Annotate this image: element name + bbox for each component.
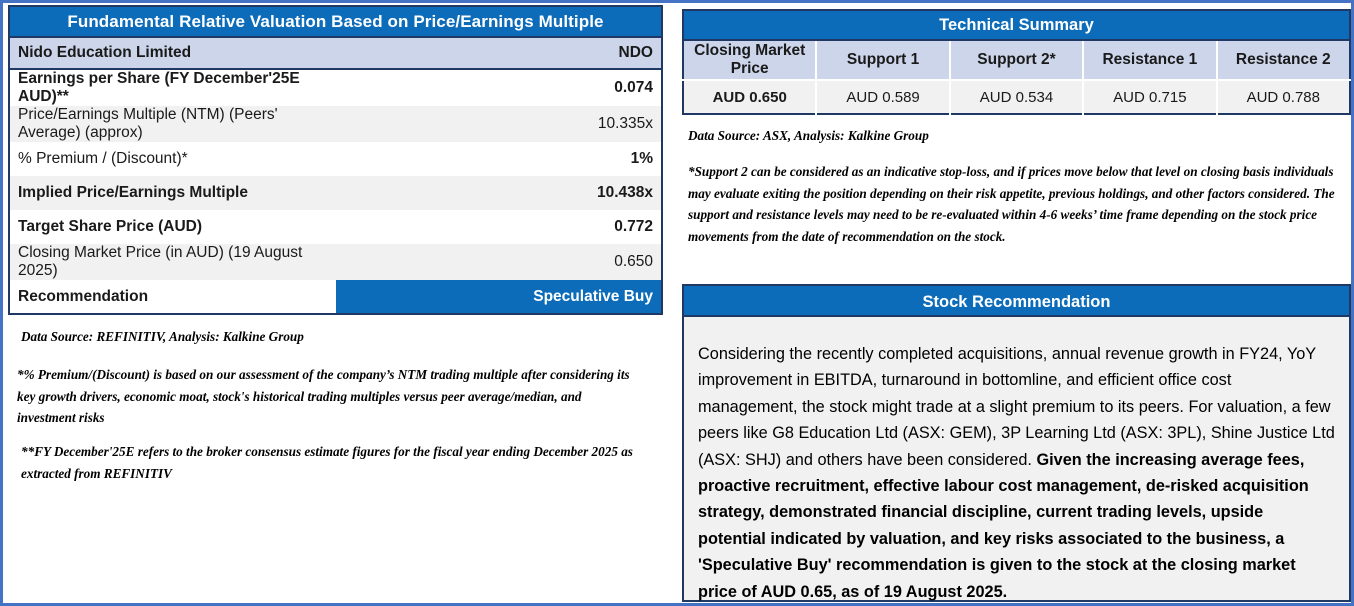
stock-recommendation-body: Considering the recently completed acqui…	[682, 317, 1351, 602]
recommendation-label: Recommendation	[9, 280, 336, 314]
col-header-resistance-2: Resistance 2	[1217, 40, 1350, 80]
table-row: Closing Market Price (in AUD) (19 August…	[9, 244, 662, 280]
row-label-eps: Earnings per Share (FY December'25E AUD)…	[9, 69, 336, 106]
row-label-pe-multiple: Price/Earnings Multiple (NTM) (Peers' Av…	[9, 106, 336, 142]
table-row: Implied Price/Earnings Multiple 10.438x	[9, 176, 662, 210]
table-row: Target Share Price (AUD) 0.772	[9, 210, 662, 244]
row-label-closing-price: Closing Market Price (in AUD) (19 August…	[9, 244, 336, 280]
technical-header-row: Closing Market Price Support 1 Support 2…	[683, 40, 1350, 80]
report-page: Fundamental Relative Valuation Based on …	[0, 0, 1354, 606]
row-value-premium-discount: 1%	[336, 142, 663, 176]
col-header-support-1: Support 1	[816, 40, 949, 80]
technical-summary-title: Technical Summary	[683, 10, 1350, 40]
row-value-eps: 0.074	[336, 69, 663, 106]
table-row: AUD 0.650 AUD 0.589 AUD 0.534 AUD 0.715 …	[683, 80, 1350, 114]
cell-resistance-1: AUD 0.715	[1083, 80, 1216, 114]
valuation-notes: Data Source: REFINITIV, Analysis: Kalkin…	[8, 326, 665, 485]
row-label-implied-pe: Implied Price/Earnings Multiple	[9, 176, 336, 210]
row-value-target-price: 0.772	[336, 210, 663, 244]
status-badge: Speculative Buy	[336, 280, 663, 314]
col-header-support-2: Support 2*	[950, 40, 1083, 80]
recommendation-row: Recommendation Speculative Buy	[9, 280, 662, 314]
cell-support-1: AUD 0.589	[816, 80, 949, 114]
valuation-panel: Fundamental Relative Valuation Based on …	[8, 5, 665, 599]
cell-resistance-2: AUD 0.788	[1217, 80, 1350, 114]
valuation-data-source: Data Source: REFINITIV, Analysis: Kalkin…	[21, 326, 643, 348]
row-value-pe-multiple: 10.335x	[336, 106, 663, 142]
row-value-closing-price: 0.650	[336, 244, 663, 280]
valuation-title: Fundamental Relative Valuation Based on …	[9, 6, 662, 37]
valuation-note-premium: *% Premium/(Discount) is based on our as…	[17, 364, 643, 429]
technical-note-support: *Support 2 can be considered as an indic…	[688, 161, 1337, 248]
ticker-symbol: NDO	[336, 37, 663, 69]
technical-title-row: Technical Summary	[683, 10, 1350, 40]
valuation-note-fy: **FY December'25E refers to the broker c…	[21, 441, 643, 485]
table-row: % Premium / (Discount)* 1%	[9, 142, 662, 176]
col-header-closing-market-price: Closing Market Price	[683, 40, 816, 80]
row-value-implied-pe: 10.438x	[336, 176, 663, 210]
table-row: Earnings per Share (FY December'25E AUD)…	[9, 69, 662, 106]
stock-recommendation-panel: Stock Recommendation Considering the rec…	[682, 284, 1351, 602]
stock-recommendation-title: Stock Recommendation	[682, 284, 1351, 317]
company-name: Nido Education Limited	[9, 37, 336, 69]
row-label-premium-discount: % Premium / (Discount)*	[9, 142, 336, 176]
technical-summary-panel: Technical Summary Closing Market Price S…	[682, 9, 1351, 248]
table-row: Price/Earnings Multiple (NTM) (Peers' Av…	[9, 106, 662, 142]
stock-recommendation-body-bold: Given the increasing average fees, proac…	[698, 451, 1309, 601]
cell-closing-market-price: AUD 0.650	[683, 80, 816, 114]
company-row: Nido Education Limited NDO	[9, 37, 662, 69]
col-header-resistance-1: Resistance 1	[1083, 40, 1216, 80]
valuation-title-row: Fundamental Relative Valuation Based on …	[9, 6, 662, 37]
technical-notes: Data Source: ASX, Analysis: Kalkine Grou…	[682, 125, 1351, 248]
technical-data-source: Data Source: ASX, Analysis: Kalkine Grou…	[688, 125, 1337, 147]
technical-summary-table: Technical Summary Closing Market Price S…	[682, 9, 1351, 115]
cell-support-2: AUD 0.534	[950, 80, 1083, 114]
valuation-table: Fundamental Relative Valuation Based on …	[8, 5, 663, 315]
row-label-target-price: Target Share Price (AUD)	[9, 210, 336, 244]
